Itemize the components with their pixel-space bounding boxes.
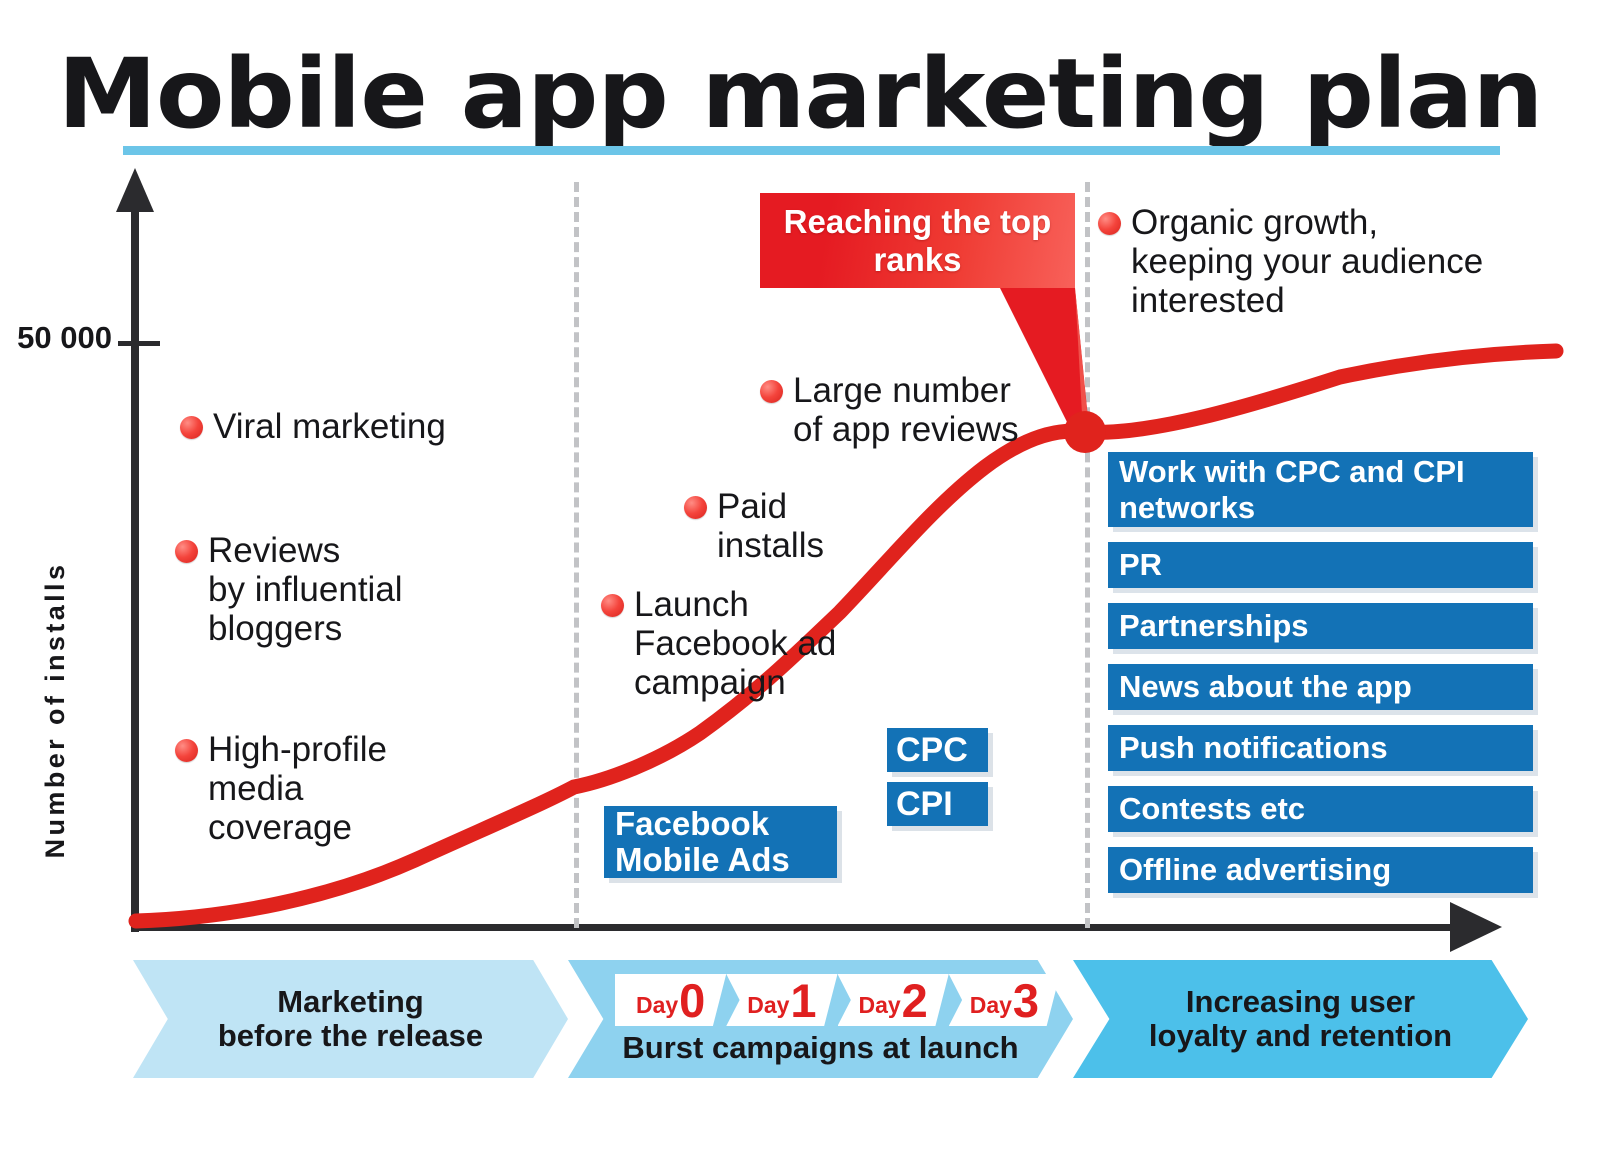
bullet-label: Viral marketing <box>213 407 446 446</box>
retention-tag-5: Contests etc <box>1108 786 1533 832</box>
day-word-label: Day <box>970 992 1012 1019</box>
day-chip-1: Day 1 <box>726 974 837 1026</box>
bullet-label: Organic growth, keeping your audience in… <box>1131 203 1483 320</box>
retention-tag-label: Partnerships <box>1119 608 1309 644</box>
day-word-label: Day <box>636 992 678 1019</box>
y-axis-tick-label: 50 000 <box>0 320 112 356</box>
timeline-phase-increasing-loyalty: Increasing user loyalty and retention <box>1073 960 1528 1078</box>
day-number-label: 1 <box>790 977 816 1024</box>
bullet-dot-icon <box>601 594 624 617</box>
bullet-viral-marketing: Viral marketing <box>180 407 446 446</box>
title-underline-rule <box>123 146 1500 155</box>
bullet-paid-installs: Paid installs <box>684 487 824 565</box>
day-word-label: Day <box>858 992 900 1019</box>
tag-label: CPC <box>896 731 968 770</box>
bullet-dot-icon <box>180 416 203 439</box>
bullet-dot-icon <box>1098 212 1121 235</box>
day-chip-group: Day 0 Day 1 Day 2 Day 3 <box>615 974 1060 1026</box>
phase-label: Burst campaigns at launch <box>622 1031 1018 1065</box>
tag-facebook-mobile-ads: Facebook Mobile Ads <box>604 806 837 878</box>
day-number-label: 0 <box>679 977 705 1024</box>
y-axis-title: Number of installs <box>40 500 80 920</box>
y-axis-arrow-icon <box>116 168 154 212</box>
bullet-dot-icon <box>175 739 198 762</box>
phase-label: Increasing user loyalty and retention <box>1149 985 1452 1053</box>
tag-cpc: CPC <box>887 728 988 772</box>
x-axis-line <box>131 924 1468 931</box>
day-chip-3: Day 3 <box>949 974 1060 1026</box>
phase-divider-2 <box>1085 182 1090 928</box>
bullet-label: Reviews by influential bloggers <box>208 531 403 648</box>
bullet-label: High-profile media coverage <box>208 730 387 847</box>
day-chip-2: Day 2 <box>838 974 949 1026</box>
bullet-dot-icon <box>760 380 783 403</box>
retention-tag-3: News about the app <box>1108 664 1533 710</box>
bullet-label: Large number of app reviews <box>793 371 1019 449</box>
callout-label: Reaching the top ranks <box>760 203 1075 279</box>
phase-label: Marketing before the release <box>218 985 483 1053</box>
bullet-media-coverage: High-profile media coverage <box>175 730 387 847</box>
timeline-phase-marketing-before-release: Marketing before the release <box>133 960 568 1078</box>
tag-cpi: CPI <box>887 782 988 826</box>
bullet-label: Paid installs <box>717 487 824 565</box>
x-axis-arrow-icon <box>1450 902 1502 952</box>
y-axis-tick-mark <box>118 341 160 346</box>
phase-divider-1 <box>574 182 579 928</box>
day-chip-0: Day 0 <box>615 974 726 1026</box>
bullet-dot-icon <box>175 540 198 563</box>
day-word-label: Day <box>747 992 789 1019</box>
bullet-large-number-of-app-reviews: Large number of app reviews <box>760 371 1019 449</box>
retention-tag-6: Offline advertising <box>1108 847 1533 893</box>
retention-tag-label: News about the app <box>1119 669 1412 705</box>
retention-tag-label: Offline advertising <box>1119 852 1391 888</box>
retention-tag-0: Work with CPC and CPI networks <box>1108 452 1533 527</box>
retention-tag-2: Partnerships <box>1108 603 1533 649</box>
retention-tag-label: PR <box>1119 547 1162 583</box>
retention-tag-label: Work with CPC and CPI networks <box>1119 454 1465 526</box>
bullet-launch-facebook-ad-campaign: Launch Facebook ad campaign <box>601 585 836 702</box>
bullet-influential-bloggers: Reviews by influential bloggers <box>175 531 403 648</box>
tag-label: CPI <box>896 785 953 824</box>
day-number-label: 2 <box>902 977 928 1024</box>
bullet-organic-growth: Organic growth, keeping your audience in… <box>1098 203 1483 320</box>
retention-tag-4: Push notifications <box>1108 725 1533 771</box>
bullet-label: Launch Facebook ad campaign <box>634 585 836 702</box>
page-title: Mobile app marketing plan <box>0 46 1600 142</box>
infographic-canvas: Mobile app marketing plan 50 000 Number … <box>0 0 1600 1166</box>
retention-tag-label: Contests etc <box>1119 791 1305 827</box>
y-axis-line <box>131 196 139 932</box>
day-number-label: 3 <box>1013 977 1039 1024</box>
reaching-top-ranks-callout: Reaching the top ranks <box>760 193 1075 288</box>
bullet-dot-icon <box>684 496 707 519</box>
retention-tag-label: Push notifications <box>1119 730 1388 766</box>
tag-label: Facebook Mobile Ads <box>615 806 790 878</box>
retention-tag-1: PR <box>1108 542 1533 588</box>
